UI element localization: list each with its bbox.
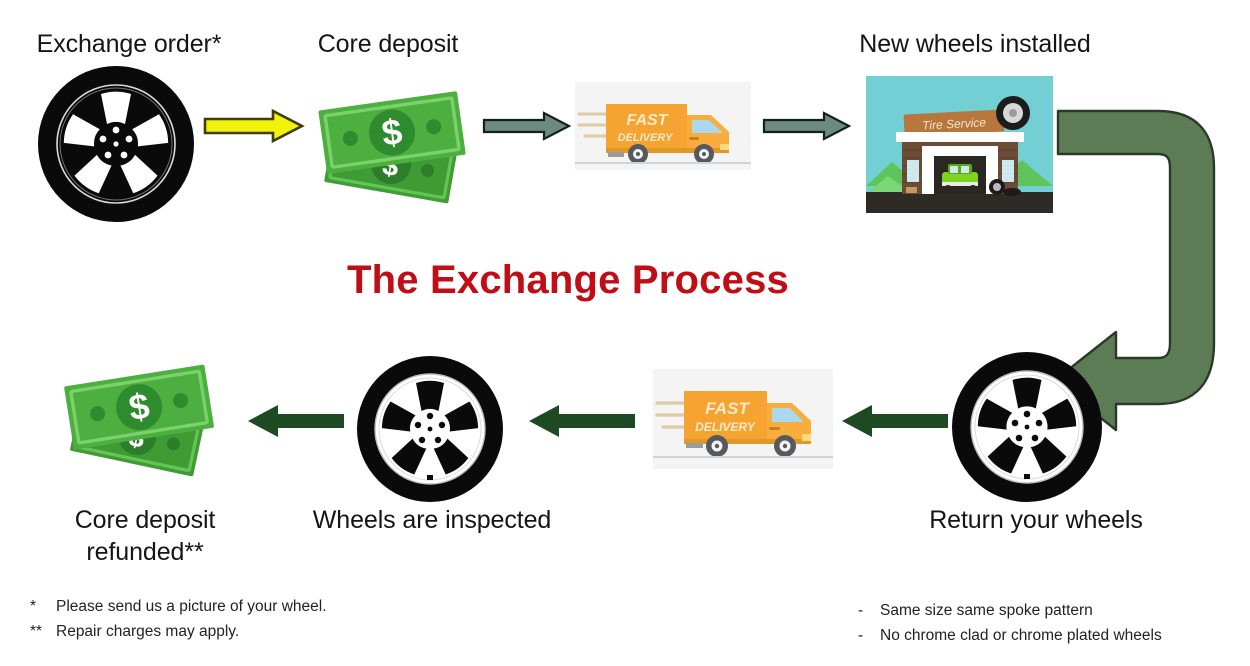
footnote-right-row-2: - No chrome clad or chrome plated wheels [858, 623, 1162, 648]
footnote-right-text-1: Same size same spoke pattern [880, 598, 1093, 623]
delivery-truck-bottom-icon: FAST DELIVERY [653, 369, 833, 469]
money-stack-top-icon: $ $ [310, 70, 482, 212]
truck-text-delivery: DELIVERY [618, 132, 674, 144]
money-stack-bottom-icon: $ $ [56, 350, 236, 485]
footnote-left-text-2: Repair charges may apply. [56, 619, 239, 644]
svg-text:DELIVERY: DELIVERY [695, 420, 756, 434]
arrow-green-left-3-icon [840, 402, 950, 440]
footnote-right-text-2: No chrome clad or chrome plated wheels [880, 623, 1162, 648]
footnote-right-mark-2: - [858, 623, 880, 648]
footnote-left-mark-1: * [30, 594, 56, 619]
page-title: The Exchange Process [347, 258, 789, 303]
label-core-deposit-refunded: Core deposit refunded** [10, 504, 280, 568]
arrow-sage-right-1-icon [482, 110, 572, 142]
arrow-green-left-1-icon [246, 402, 346, 440]
label-exchange-order: Exchange order* [0, 28, 258, 60]
footnote-left-text-1: Please send us a picture of your wheel. [56, 594, 327, 619]
footnote-left-row-2: ** Repair charges may apply. [30, 619, 327, 644]
label-wheels-inspected: Wheels are inspected [300, 504, 564, 536]
footnote-left-mark-2: ** [30, 619, 56, 644]
tire-service-shop-icon: Tire Service [866, 76, 1053, 213]
footnote-left-row-1: * Please send us a picture of your wheel… [30, 594, 327, 619]
truck-text-fast: FAST [627, 112, 669, 129]
arrow-yellow-right-icon [203, 108, 305, 144]
label-new-wheels-installed: New wheels installed [800, 28, 1150, 60]
delivery-truck-top-icon: FAST DELIVERY [575, 82, 751, 170]
arrow-green-left-2-icon [527, 402, 637, 440]
svg-text:FAST: FAST [705, 399, 750, 418]
label-core-deposit: Core deposit [288, 28, 488, 60]
footnote-right-row-1: - Same size same spoke pattern [858, 598, 1162, 623]
footnote-left: * Please send us a picture of your wheel… [30, 594, 327, 644]
footnote-right: - Same size same spoke pattern - No chro… [858, 598, 1162, 648]
arrow-sage-right-2-icon [762, 110, 852, 142]
wheel-silver-return-icon [951, 351, 1103, 503]
wheel-silver-inspected-icon [356, 355, 504, 503]
label-return-your-wheels: Return your wheels [900, 504, 1172, 536]
footnote-right-mark-1: - [858, 598, 880, 623]
wheel-black-icon [36, 64, 196, 224]
exchange-process-infographic: Exchange order* Core deposit New wheels … [0, 0, 1250, 666]
